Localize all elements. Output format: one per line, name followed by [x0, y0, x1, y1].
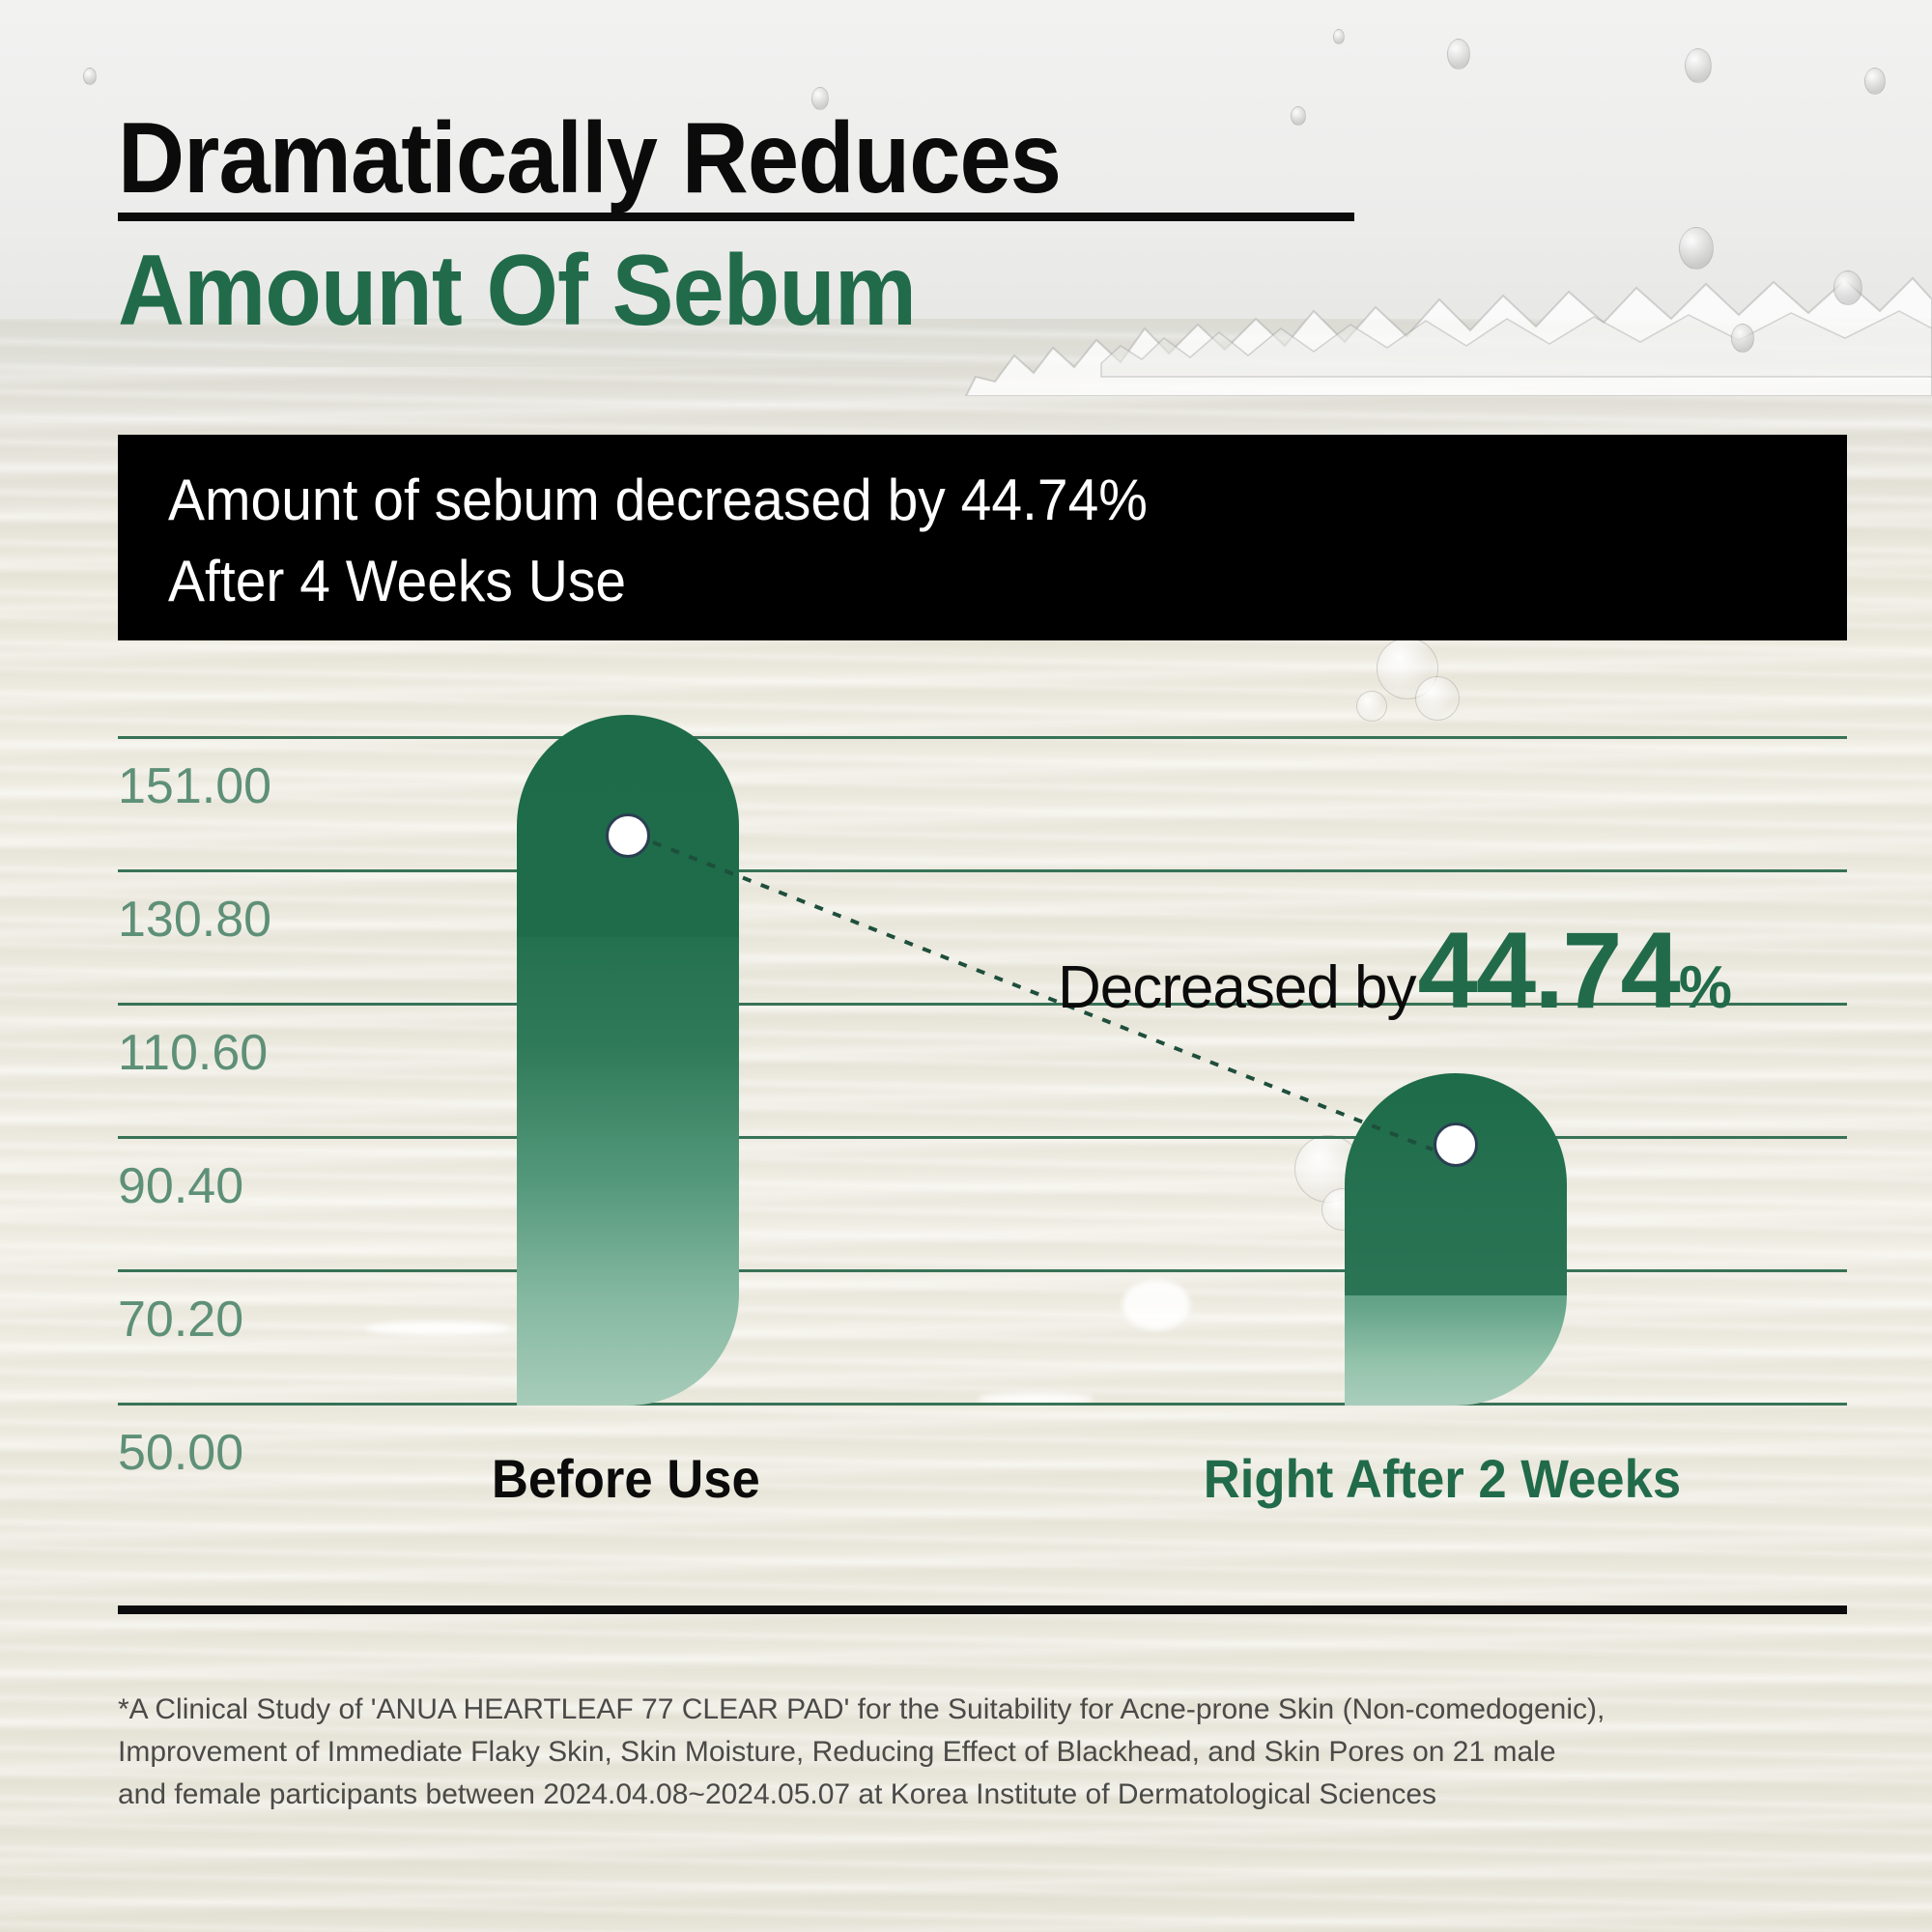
callout-unit: %	[1679, 953, 1732, 1022]
ytick-label-70: 70.20	[118, 1291, 243, 1349]
xlabel-before-use: Before Use	[492, 1447, 760, 1510]
ytick-label-50: 50.00	[118, 1424, 243, 1482]
gridline-130	[118, 869, 1847, 872]
footnote-line-3: and female participants between 2024.04.…	[118, 1774, 1857, 1816]
footnote: *A Clinical Study of 'ANUA HEARTLEAF 77 …	[118, 1689, 1857, 1815]
sebum-bar-chart: 151.00 130.80 110.60 90.40 70.20 50.00 B…	[0, 0, 1932, 1932]
callout-value: 44.74	[1418, 908, 1679, 1033]
infographic-canvas: Dramatically Reduces Amount Of Sebum Amo…	[0, 0, 1932, 1932]
ytick-label-110: 110.60	[118, 1024, 268, 1082]
ytick-label-90: 90.40	[118, 1157, 243, 1215]
marker-dot-after-2-weeks	[1434, 1122, 1478, 1167]
marker-dot-before-use	[606, 813, 650, 858]
gridline-90	[118, 1136, 1847, 1139]
footnote-line-2: Improvement of Immediate Flaky Skin, Ski…	[118, 1731, 1857, 1774]
gridline-70	[118, 1269, 1847, 1272]
xlabel-after-2-weeks: Right After 2 Weeks	[1204, 1447, 1681, 1510]
callout-label: Decreased by	[1058, 953, 1416, 1022]
gridline-50	[118, 1403, 1847, 1406]
bar-after-2-weeks-dome	[1345, 1073, 1567, 1295]
footnote-line-1: *A Clinical Study of 'ANUA HEARTLEAF 77 …	[118, 1689, 1857, 1731]
gridline-151	[118, 736, 1847, 739]
decrease-callout: Decreased by 44.74 %	[1058, 908, 1732, 1033]
ytick-label-130: 130.80	[118, 891, 271, 949]
ytick-label-151: 151.00	[118, 757, 271, 815]
footer-divider	[118, 1605, 1847, 1614]
